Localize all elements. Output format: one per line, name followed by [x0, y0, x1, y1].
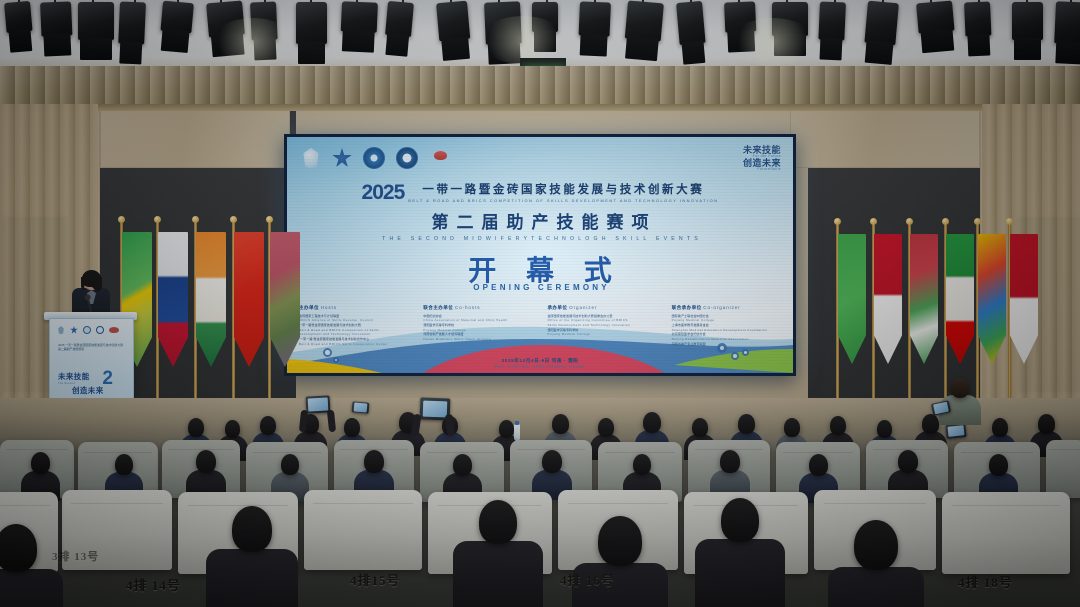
audience-member-head — [225, 420, 240, 438]
chair-seam — [427, 452, 498, 453]
audience-chair[interactable] — [942, 492, 1070, 574]
chair-seam — [71, 503, 163, 504]
audience-member-head — [499, 420, 514, 438]
seat-label: 4排 16号 — [560, 570, 615, 589]
stage-par-light — [724, 1, 756, 32]
curtain-valance-lip — [0, 104, 1080, 111]
chair-seam — [605, 452, 676, 453]
exit-sign-mount — [520, 58, 566, 66]
chair-seam — [313, 503, 412, 504]
audience-member-head — [877, 420, 892, 438]
audience-member-head — [992, 418, 1008, 437]
audience-member-head — [115, 454, 133, 475]
speaker-hair — [82, 270, 101, 287]
stage-par-light — [484, 1, 522, 45]
audience-member-head — [643, 412, 661, 433]
flag-finial — [834, 218, 841, 225]
stage-par-light — [250, 1, 278, 40]
audience-member-torso — [453, 541, 543, 607]
audience-member-head — [989, 454, 1008, 476]
podium-brand-cn-2: 创造未来 — [72, 385, 127, 396]
attendee-phone — [352, 401, 370, 413]
audience-member-head — [720, 450, 740, 473]
audience-member-head — [598, 516, 642, 566]
podium-logo-row — [57, 326, 119, 334]
audience-member-head — [0, 524, 37, 572]
audience-member-head — [281, 454, 299, 475]
audience-member-torso — [828, 567, 924, 607]
logo-red-ribbon — [109, 327, 119, 333]
stage-par-light — [864, 1, 899, 46]
bottle-cap — [515, 421, 519, 425]
audience-member-head — [188, 418, 204, 437]
flag-finial — [154, 216, 161, 223]
logo-academy-seal — [96, 326, 104, 334]
podium-edition-badge: 2 — [102, 369, 113, 388]
audience-chair[interactable] — [1046, 440, 1080, 498]
phone-screen — [933, 402, 949, 414]
audience-member-head — [692, 418, 708, 437]
seat-label: 4排 18号 — [958, 572, 1013, 591]
seat-label: 3排 13号 — [52, 548, 99, 564]
stage-par-light — [78, 2, 114, 40]
attendee-phone — [945, 423, 966, 439]
chair-seam — [961, 452, 1033, 453]
flag-finial — [974, 218, 981, 225]
logo-star-emblem — [70, 326, 78, 334]
wall-panel-left-upper — [100, 104, 290, 168]
stage-par-light — [1012, 2, 1043, 40]
stage-par-light — [579, 1, 611, 36]
stage-par-light — [118, 1, 146, 44]
audience-member-head — [232, 506, 272, 552]
chair-seam — [6, 449, 68, 450]
stage-par-light — [40, 1, 72, 36]
phone-screen — [423, 400, 448, 418]
chair-seam — [824, 503, 927, 504]
stage-par-light — [1054, 1, 1080, 45]
audience-member-head — [738, 414, 755, 434]
seat-label: 4排15号 — [350, 570, 401, 589]
stage-par-light — [436, 1, 470, 42]
audience-member-head — [479, 500, 517, 544]
podium-event-lines: 2025 一带一路暨金砖国家技能发展与技术创新大赛 第二届助产技能赛项 — [58, 343, 125, 352]
stage-par-light — [206, 0, 245, 37]
podium-brand-cn-1: 未来技能 — [58, 371, 127, 382]
stage-par-light — [964, 1, 991, 36]
flag-finial — [906, 218, 913, 225]
flag-finial — [230, 216, 237, 223]
logo-circular-blue-emblem — [83, 326, 91, 334]
chair-seam — [1049, 449, 1080, 450]
audience-member-head — [344, 418, 360, 437]
podium-brand: 2 未来技能 The Second 创造未来 — [58, 371, 127, 396]
audience-member-head — [830, 416, 846, 435]
flag-finial — [192, 216, 199, 223]
logo-dove-emblem — [57, 326, 65, 334]
stage-par-light — [532, 2, 558, 32]
stage-par-light — [160, 1, 193, 34]
audience-member-head — [784, 418, 800, 437]
audience-member-head — [951, 378, 969, 398]
chair-seam — [568, 503, 669, 504]
flag-finial — [118, 216, 125, 223]
stage-par-light — [676, 1, 706, 45]
audience-member-head — [552, 414, 569, 434]
led-display: 未来技能 For the Future 创造未来 FutureSkills 20… — [284, 134, 796, 376]
chair-seam — [783, 452, 854, 453]
audience-member-head — [542, 450, 562, 473]
stage-par-light — [818, 1, 846, 40]
chair-seam — [188, 505, 289, 506]
stage-par-light — [772, 2, 808, 36]
flag-finial — [1006, 218, 1013, 225]
chair-seam — [253, 452, 322, 453]
flag-finial — [942, 218, 949, 225]
water-bottle — [514, 424, 520, 441]
wall-panel-right-upper — [790, 104, 980, 168]
stage-par-light — [916, 0, 954, 33]
chair-seam — [952, 505, 1060, 506]
audience-member-head — [196, 450, 216, 473]
audience-member-head — [453, 454, 472, 476]
audience-member-head — [1038, 414, 1055, 434]
audience-member-head — [260, 416, 276, 435]
podium-event-line-2: 第二届助产技能赛项 — [58, 347, 125, 351]
audience-member-torso — [695, 539, 785, 607]
flag-finial — [870, 218, 877, 225]
audience-member-head — [721, 498, 759, 542]
seat-label: 4排 14号 — [126, 575, 181, 594]
stage-par-light — [625, 0, 664, 41]
audience-member-head — [598, 418, 614, 437]
audience-member-head — [922, 414, 939, 434]
phone-screen — [308, 398, 328, 412]
phone-screen — [947, 425, 964, 437]
screenshot-root: EXIT 未来技能 F — [0, 0, 1080, 607]
audience-member-torso — [206, 549, 298, 607]
audience-member-head — [31, 452, 50, 474]
audience-chair[interactable] — [304, 490, 422, 570]
audience-member-head — [898, 450, 918, 473]
stage-par-light — [341, 1, 378, 33]
flag-finial — [266, 216, 273, 223]
audience-member-head — [364, 450, 384, 473]
audience-member-head — [633, 454, 651, 475]
led-pixel-texture — [287, 137, 793, 373]
stage-par-light — [4, 1, 33, 33]
stage-par-light — [296, 2, 327, 44]
chair-seam — [0, 505, 50, 506]
stage-par-light — [385, 1, 414, 37]
chair-seam — [84, 452, 151, 453]
phone-screen — [353, 403, 367, 413]
audience-member-head — [809, 454, 828, 476]
audience-member-head — [854, 520, 898, 570]
audience-member-torso — [0, 569, 63, 607]
